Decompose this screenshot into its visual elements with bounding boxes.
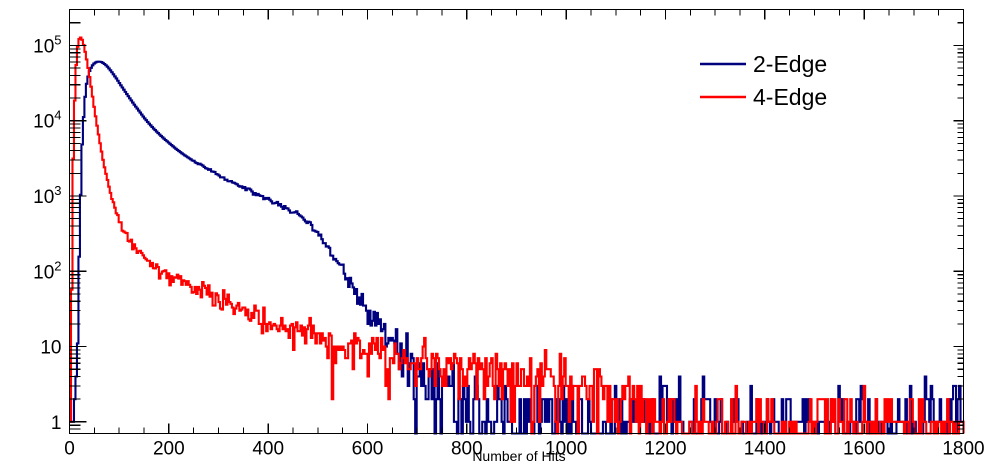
x-tick-label: 400 — [252, 439, 284, 460]
x-tick-label: 0 — [64, 439, 75, 460]
y-tick-label: 10 — [40, 338, 61, 359]
x-axis-title: Number of Hits — [472, 448, 565, 464]
x-tick-label: 1400 — [744, 439, 786, 460]
y-tick-label: 1 — [51, 413, 62, 434]
x-tick-label: 600 — [352, 439, 384, 460]
x-tick-label: 1800 — [942, 439, 984, 460]
legend-label-2-edge: 2-Edge — [753, 51, 827, 77]
legend-label-4-edge: 4-Edge — [753, 84, 827, 110]
histogram-plot: 020040060080010001200140016001800 110102… — [0, 0, 996, 472]
x-tick-label: 1600 — [843, 439, 885, 460]
chart-canvas: 020040060080010001200140016001800 110102… — [0, 0, 996, 472]
x-tick-label: 200 — [153, 439, 185, 460]
x-tick-label: 1200 — [644, 439, 686, 460]
